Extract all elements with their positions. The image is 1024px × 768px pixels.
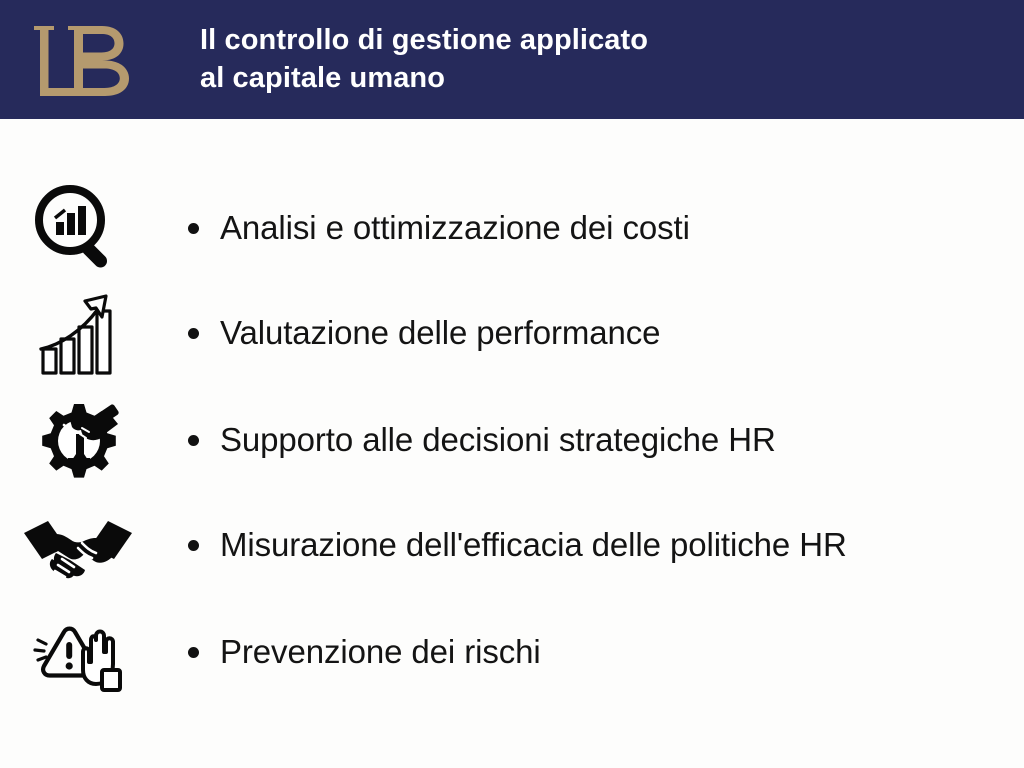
bullet-cell: Supporto alle decisioni strategiche HR xyxy=(156,392,1024,488)
bullet-marker xyxy=(188,223,199,234)
bullet-cell: Analisi e ottimizzazione dei costi xyxy=(156,180,1024,276)
list-item: Analisi e ottimizzazione dei costi xyxy=(0,180,1024,276)
list-item-label: Analisi e ottimizzazione dei costi xyxy=(220,208,690,248)
icon-cell xyxy=(0,285,156,381)
slide: Il controllo di gestione applicato al ca… xyxy=(0,0,1024,768)
bullet-cell: Prevenzione dei rischi xyxy=(156,604,1024,700)
bullet-cell: Valutazione delle performance xyxy=(156,285,1024,381)
list-item: Valutazione delle performance xyxy=(0,285,1024,381)
icon-cell xyxy=(0,180,156,276)
bullet-list: Analisi e ottimizzazione dei costi xyxy=(0,119,1024,768)
magnifier-bar-chart-icon xyxy=(30,182,126,274)
list-item-label: Misurazione dell'efficacia delle politic… xyxy=(220,525,847,565)
lb-monogram-logo xyxy=(28,20,158,104)
icon-cell xyxy=(0,392,156,488)
bullet-marker xyxy=(188,647,199,658)
list-item: Supporto alle decisioni strategiche HR xyxy=(0,392,1024,488)
list-item: Prevenzione dei rischi xyxy=(0,604,1024,700)
icon-cell xyxy=(0,604,156,700)
list-item: Misurazione dell'efficacia delle politic… xyxy=(0,497,1024,593)
handshake-icon xyxy=(22,503,134,587)
list-item-label: Supporto alle decisioni strategiche HR xyxy=(220,420,776,460)
list-item-label: Prevenzione dei rischi xyxy=(220,632,541,672)
bullet-cell: Misurazione dell'efficacia delle politic… xyxy=(156,497,1024,593)
growth-chart-arrow-icon xyxy=(30,287,126,379)
icon-cell xyxy=(0,497,156,593)
slide-header: Il controllo di gestione applicato al ca… xyxy=(0,0,1024,119)
warning-triangle-stop-hand-icon xyxy=(26,606,130,698)
list-item-label: Valutazione delle performance xyxy=(220,313,660,353)
page-title: Il controllo di gestione applicato al ca… xyxy=(200,21,1000,97)
gear-hand-hammer-icon xyxy=(30,394,126,486)
bullet-marker xyxy=(188,540,199,551)
bullet-marker xyxy=(188,435,199,446)
bullet-marker xyxy=(188,328,199,339)
